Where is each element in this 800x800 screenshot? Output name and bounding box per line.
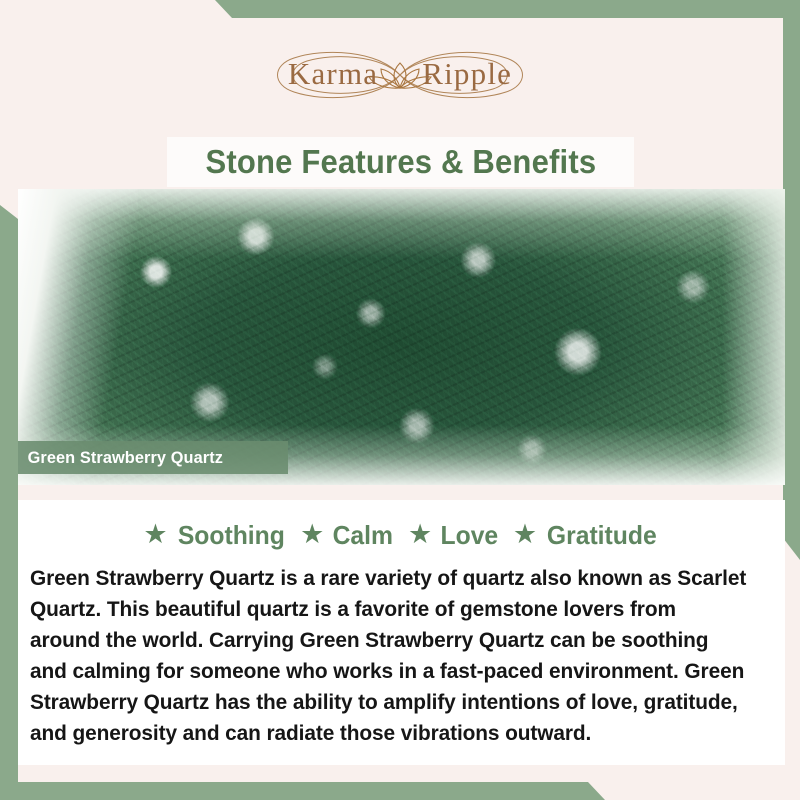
page-title: Stone Features & Benefits bbox=[205, 143, 596, 181]
decorative-border-top bbox=[0, 0, 800, 18]
description-paragraph: Green Strawberry Quartz is a rare variet… bbox=[30, 563, 751, 749]
stone-photo: Green Strawberry Quartz bbox=[18, 189, 785, 485]
brand-name-right: Ripple bbox=[422, 56, 512, 92]
decorative-border-bottom bbox=[0, 782, 800, 800]
infographic-card: Karma Ripple Stone Features & Benefits G… bbox=[0, 0, 800, 800]
star-icon: ★ bbox=[300, 521, 324, 548]
benefit-label: Soothing bbox=[177, 520, 284, 551]
benefit-label: Gratitude bbox=[547, 520, 657, 551]
photo-caption: Green Strawberry Quartz bbox=[18, 448, 223, 468]
brand-name-left: Karma bbox=[288, 56, 378, 92]
benefit-item: ★ Love bbox=[408, 520, 500, 551]
content-panel: ★ Soothing ★ Calm ★ Love ★ Gratitude Gre… bbox=[18, 500, 785, 765]
brand-logo: Karma Ripple bbox=[0, 44, 800, 106]
star-icon: ★ bbox=[408, 521, 432, 548]
benefit-item: ★ Calm bbox=[300, 520, 395, 551]
star-icon: ★ bbox=[513, 521, 537, 548]
benefit-item: ★ Gratitude bbox=[513, 520, 660, 551]
title-banner: Stone Features & Benefits bbox=[167, 137, 634, 187]
decorative-border-left-upper bbox=[0, 205, 18, 493]
star-icon: ★ bbox=[143, 521, 167, 548]
benefit-item: ★ Soothing bbox=[143, 520, 287, 551]
benefit-label: Love bbox=[441, 520, 499, 551]
decorative-border-left-lower bbox=[0, 493, 18, 783]
benefit-label: Calm bbox=[333, 520, 393, 551]
benefits-row: ★ Soothing ★ Calm ★ Love ★ Gratitude bbox=[18, 513, 785, 557]
photo-caption-band: Green Strawberry Quartz bbox=[18, 441, 288, 474]
